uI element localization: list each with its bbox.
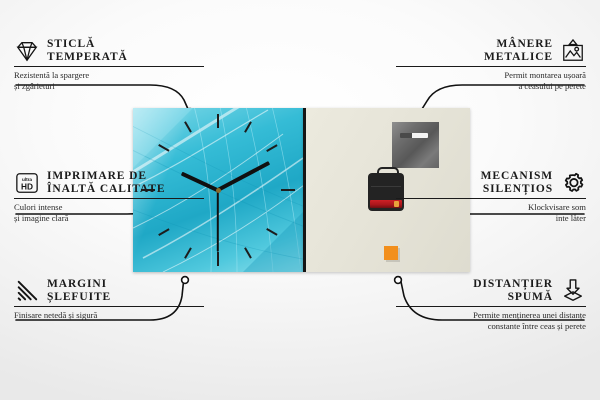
callout-high-quality-print: ultra HD IMPRIMARE DE ÎNALTĂ CALITATE Cu… bbox=[14, 170, 204, 223]
hanger-slot bbox=[400, 133, 428, 138]
callout-subtitle: Culori intense și imagine clară bbox=[14, 202, 204, 223]
diagonal-stripes-icon bbox=[14, 279, 40, 303]
callout-tempered-glass: STICLĂ TEMPERATĂ Rezistentă la spargere … bbox=[14, 38, 204, 91]
clock-minute-hand bbox=[217, 161, 270, 192]
clock-tick bbox=[266, 228, 277, 235]
press-down-pad-icon bbox=[560, 279, 586, 303]
callout-title: MARGINI ȘLEFUITE bbox=[47, 278, 111, 303]
callout-title: MÂNERE METALICE bbox=[484, 38, 553, 63]
clock-tick bbox=[244, 121, 251, 132]
callout-subtitle: Rezistentă la spargere și zgârieturi bbox=[14, 70, 204, 91]
svg-text:HD: HD bbox=[21, 181, 33, 191]
callout-subtitle: Permite menținerea unei distanțe constan… bbox=[396, 310, 586, 331]
callout-rule bbox=[396, 198, 586, 199]
callout-rule bbox=[396, 66, 586, 67]
ultra-hd-icon: ultra HD bbox=[14, 171, 40, 195]
callout-header: MECANISM SILENȚIOS bbox=[396, 170, 586, 195]
callout-rule bbox=[396, 306, 586, 307]
callout-rule bbox=[14, 66, 204, 67]
callout-header: ultra HD IMPRIMARE DE ÎNALTĂ CALITATE bbox=[14, 170, 204, 195]
callout-rule bbox=[14, 306, 204, 307]
callout-rule bbox=[14, 198, 204, 199]
clock-tick bbox=[217, 114, 219, 128]
callout-subtitle: Finisare netedă și sigură bbox=[14, 310, 204, 320]
callout-title: STICLĂ TEMPERATĂ bbox=[47, 38, 128, 63]
clock-tick bbox=[281, 189, 295, 191]
clock-second-hand bbox=[217, 190, 219, 252]
foam-spacer-pad bbox=[384, 246, 398, 260]
callout-header: STICLĂ TEMPERATĂ bbox=[14, 38, 204, 63]
callout-header: DISTANȚIER SPUMĂ bbox=[396, 278, 586, 303]
callout-metal-handles: MÂNERE METALICE Permit montarea ușoară a… bbox=[396, 38, 586, 91]
clock-tick bbox=[266, 144, 277, 151]
callout-polished-edges: MARGINI ȘLEFUITE Finisare netedă și sigu… bbox=[14, 278, 204, 321]
clock-tick bbox=[217, 252, 219, 266]
metal-hanger-plate bbox=[392, 122, 439, 168]
clock-tick bbox=[184, 247, 191, 258]
diamond-icon bbox=[14, 39, 40, 63]
clock-tick bbox=[184, 121, 191, 132]
callout-title: MECANISM SILENȚIOS bbox=[481, 170, 553, 195]
callout-subtitle: Permit montarea ușoară a ceasului pe per… bbox=[396, 70, 586, 91]
clock-center-pin bbox=[216, 188, 221, 193]
clock-tick bbox=[158, 144, 169, 151]
callout-silent-mechanism: MECANISM SILENȚIOS Klockvisare som inte … bbox=[396, 170, 586, 223]
callout-title: DISTANȚIER SPUMĂ bbox=[473, 278, 553, 303]
callout-subtitle: Klockvisare som inte låter bbox=[396, 202, 586, 223]
gear-icon bbox=[560, 171, 586, 195]
callout-foam-spacer: DISTANȚIER SPUMĂ Permite menținerea unei… bbox=[396, 278, 586, 331]
clock-tick bbox=[244, 247, 251, 258]
callout-title: IMPRIMARE DE ÎNALTĂ CALITATE bbox=[47, 170, 165, 195]
callout-header: MÂNERE METALICE bbox=[396, 38, 586, 63]
hanging-frame-icon bbox=[560, 39, 586, 63]
feature-diagram: STICLĂ TEMPERATĂ Rezistentă la spargere … bbox=[0, 0, 600, 400]
clock-tick bbox=[158, 228, 169, 235]
callout-header: MARGINI ȘLEFUITE bbox=[14, 278, 204, 303]
